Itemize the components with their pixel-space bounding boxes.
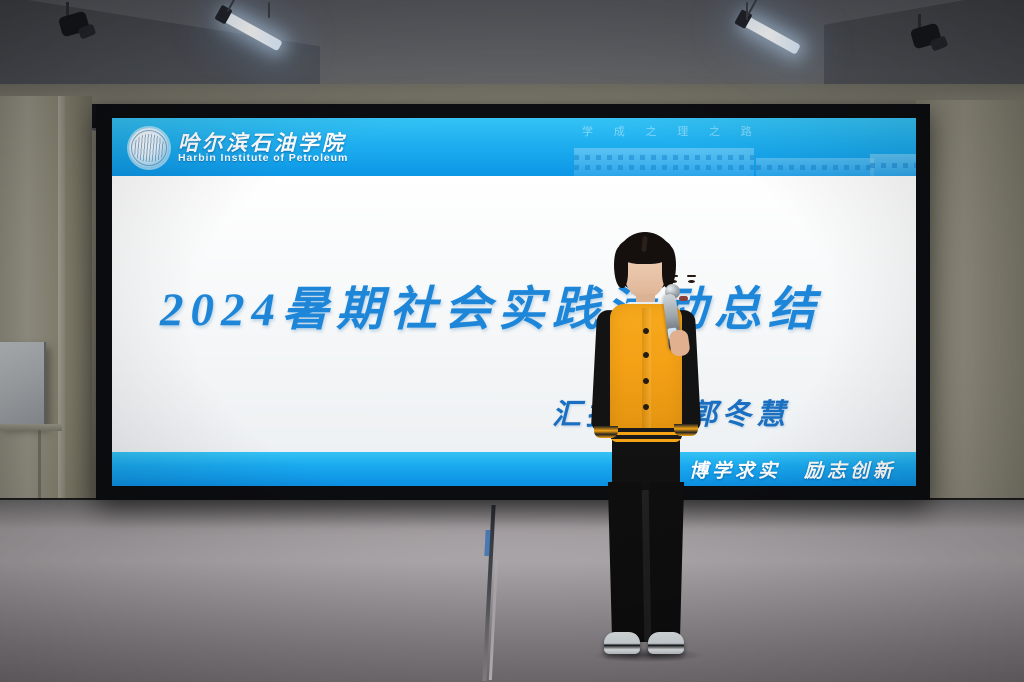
building-far-wing <box>870 154 916 176</box>
person-leg-left <box>608 482 646 642</box>
slide-footer-band: 博学求实 励志创新 <box>112 452 916 486</box>
wall-shelf <box>0 424 62 431</box>
person-shoe-left <box>604 632 640 654</box>
ceiling-rod-right <box>746 2 748 20</box>
stage-spotlight-left <box>60 14 88 34</box>
mouth <box>679 296 688 301</box>
screenshot-root: 哈尔滨石油学院 Harbin Institute of Petroleum 学 … <box>0 0 1024 682</box>
person-leg-right <box>646 482 684 642</box>
floor <box>0 500 1024 682</box>
jacket-placket <box>642 308 651 434</box>
stage-spotlight-right <box>912 26 940 46</box>
building-window-row <box>574 155 754 160</box>
institution-name-en: Harbin Institute of Petroleum <box>178 152 348 164</box>
slide-body: 2024暑期社会实践活动总结 汇报人：郭冬慧 <box>112 176 916 452</box>
campus-building-icon <box>564 140 916 176</box>
eye-right <box>688 280 695 283</box>
wall-mounted-box <box>0 342 46 426</box>
university-seal-icon <box>129 128 169 168</box>
right-wall <box>916 100 1024 524</box>
slide-title: 2024暑期社会实践活动总结 <box>160 270 822 339</box>
eyebrow-right <box>687 275 696 277</box>
jacket-hem-stripe <box>610 428 682 442</box>
jacket-button <box>643 378 649 384</box>
ceiling-rod-left <box>268 2 270 18</box>
left-wall-pillar <box>0 96 92 526</box>
person-hair-side-left <box>614 246 628 288</box>
presenter-person <box>586 232 706 660</box>
jacket-button <box>643 352 649 358</box>
presentation-slide[interactable]: 哈尔滨石油学院 Harbin Institute of Petroleum 学 … <box>112 118 916 486</box>
jacket-button <box>643 404 649 410</box>
left-pillar-edge <box>58 96 65 520</box>
jacket-cuff-right <box>674 424 698 436</box>
building-window-row <box>756 165 874 170</box>
jacket-button <box>643 328 649 334</box>
building-main-block <box>574 148 754 176</box>
person-hand <box>668 329 690 357</box>
person-shoe-right <box>648 632 684 654</box>
building-window-row <box>870 163 916 168</box>
school-motto: 博学求实 励志创新 <box>689 456 896 483</box>
slide-header-band: 哈尔滨石油学院 Harbin Institute of Petroleum 学 … <box>112 118 916 176</box>
header-small-motto: 学 成 之 理 之 路 <box>582 123 761 139</box>
building-right-wing <box>756 158 874 176</box>
building-window-row <box>574 165 754 170</box>
jacket-cuff-left <box>594 426 618 438</box>
seal-fan-icon <box>133 134 165 162</box>
